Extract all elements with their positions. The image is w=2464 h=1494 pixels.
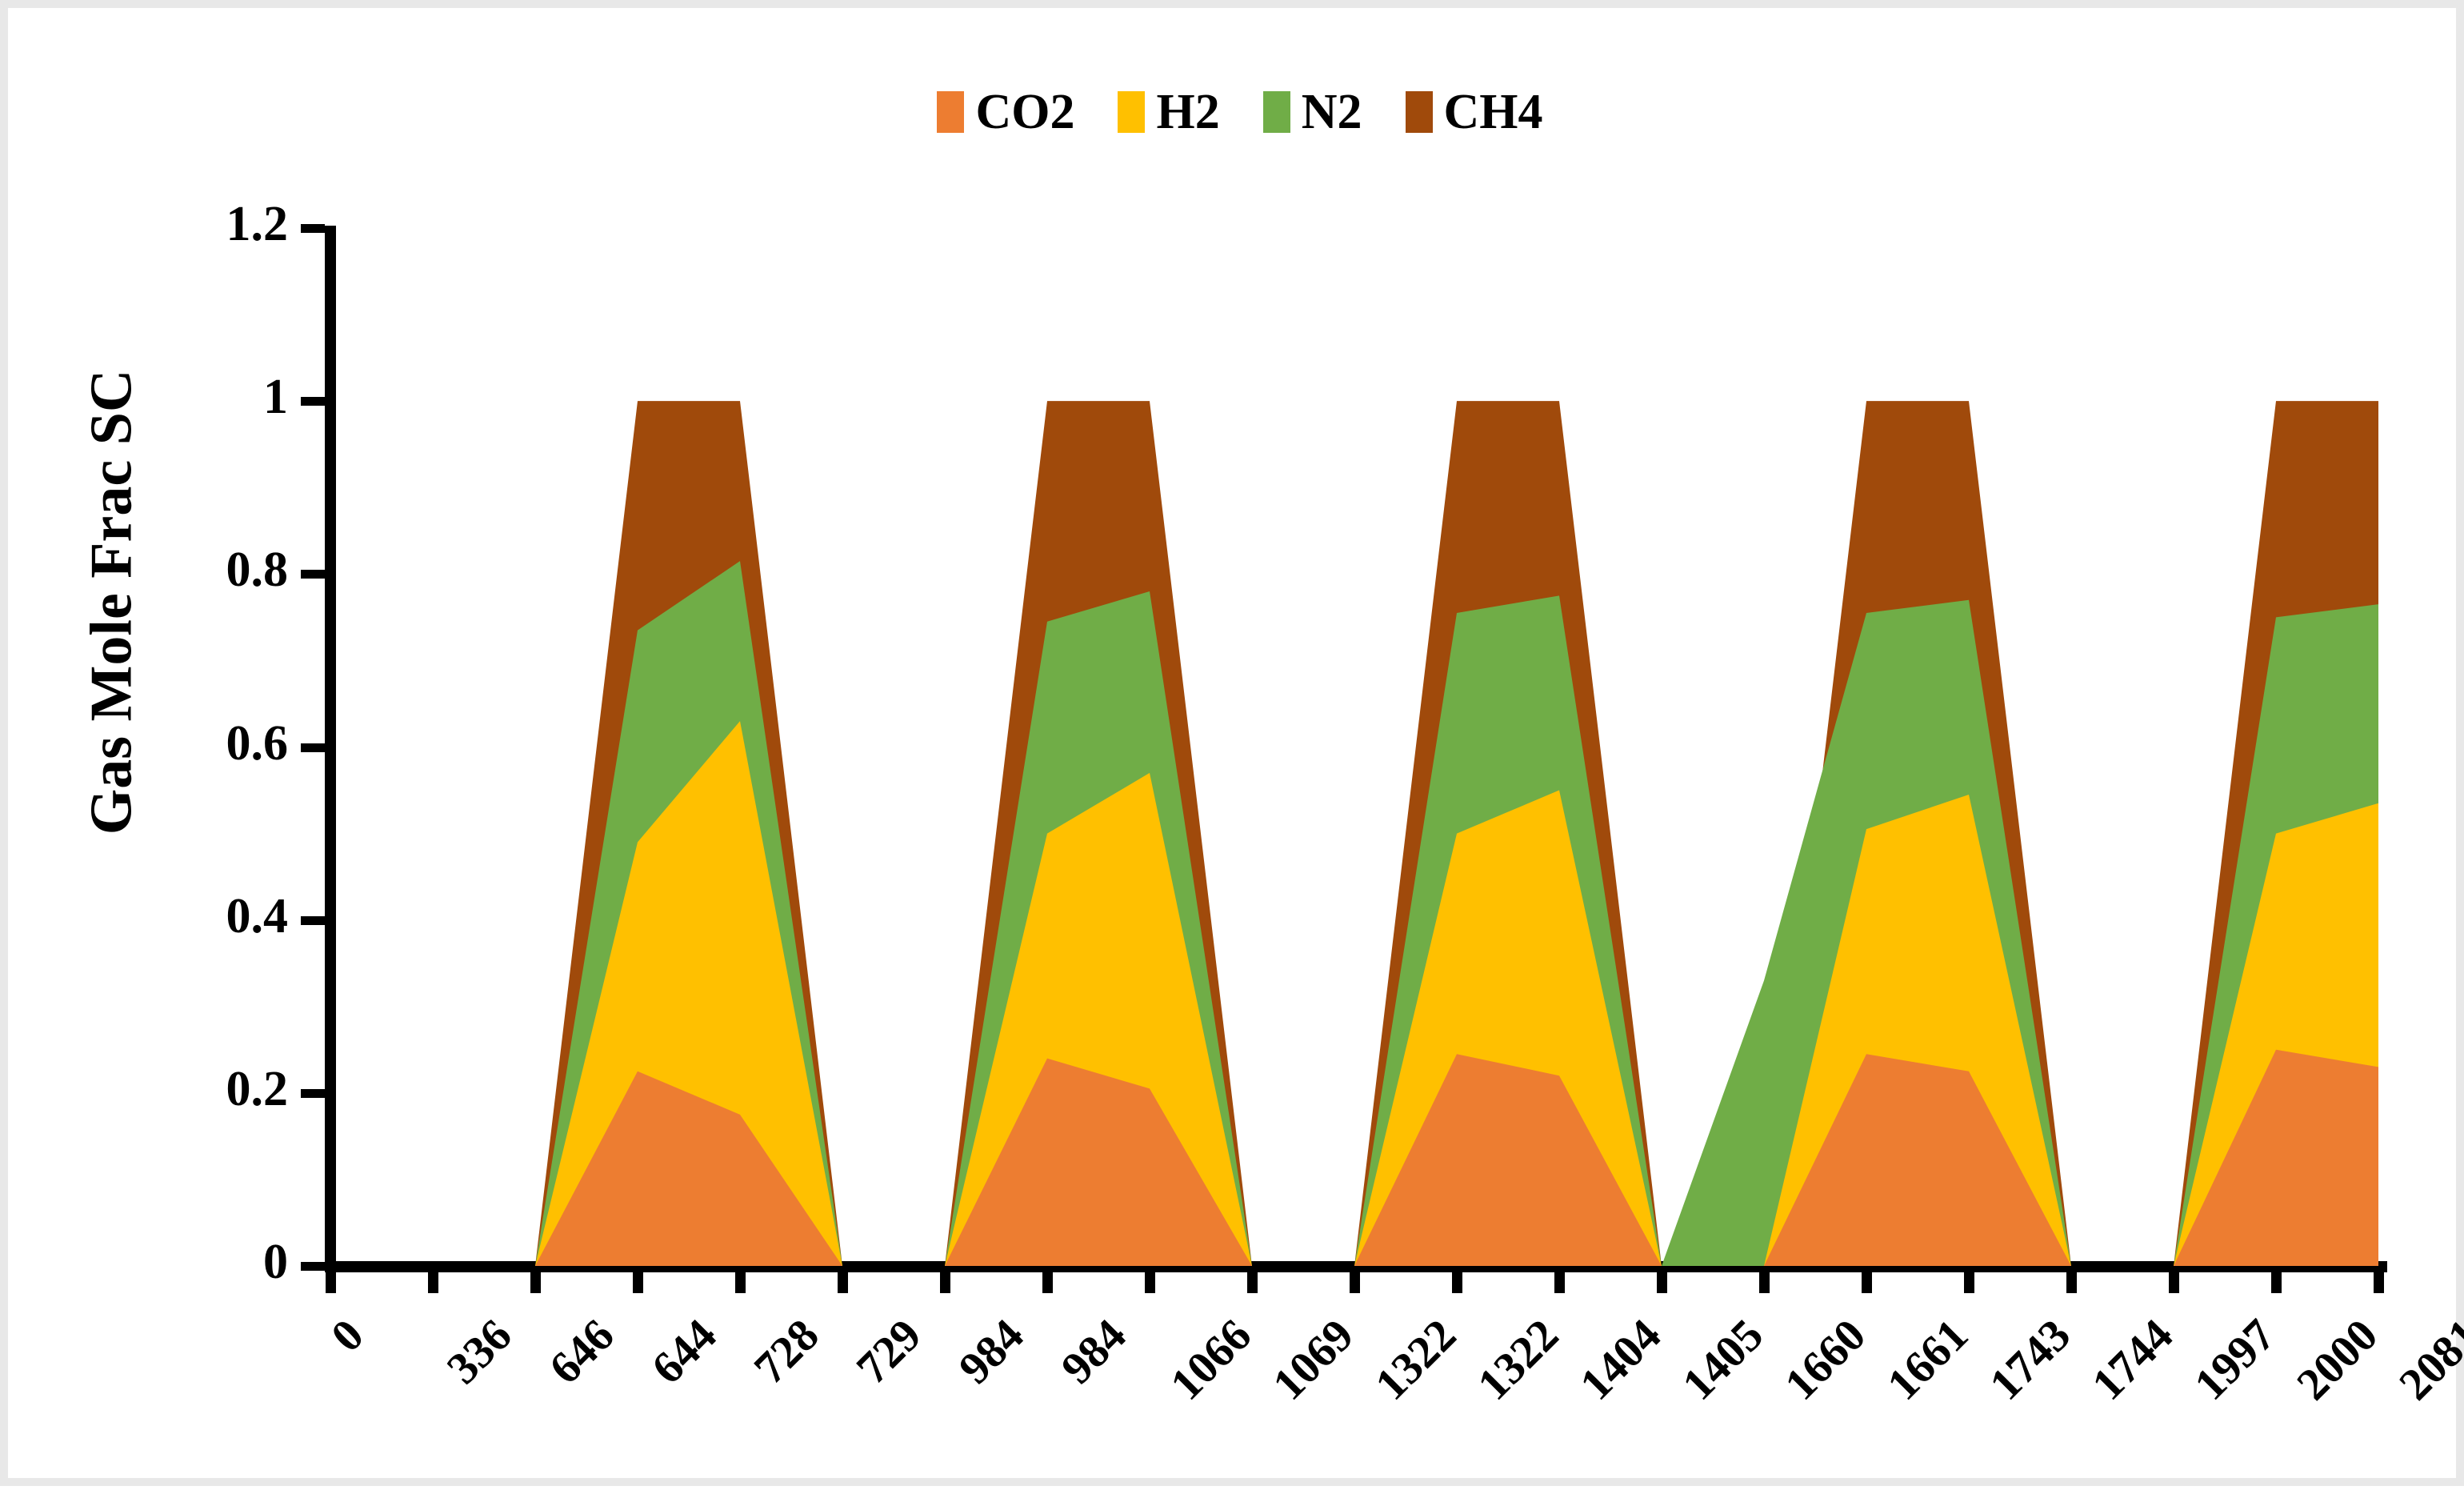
y-axis-tick-label: 0.6 bbox=[88, 719, 288, 768]
legend-item-h2: H2 bbox=[1118, 87, 1219, 137]
plot-svg bbox=[330, 228, 2378, 1266]
x-axis-tick-label: 728 bbox=[744, 1309, 829, 1394]
x-axis-tick bbox=[838, 1272, 848, 1293]
x-axis-tick-label: 1405 bbox=[1672, 1309, 1774, 1411]
x-axis-tick-label: 1066 bbox=[1160, 1309, 1262, 1411]
x-axis-tick-label: 336 bbox=[437, 1309, 522, 1394]
x-axis-tick-label: 1744 bbox=[2082, 1309, 2183, 1411]
chart-legend: CO2 H2 N2 CH4 bbox=[8, 84, 2464, 140]
y-axis-tick-label: 0.2 bbox=[88, 1064, 288, 1114]
y-axis-tick bbox=[301, 224, 325, 233]
legend-label-h2: H2 bbox=[1156, 87, 1219, 137]
y-axis-tick bbox=[301, 743, 325, 752]
x-axis-tick-label: 729 bbox=[846, 1309, 931, 1394]
x-axis-tick bbox=[1657, 1272, 1667, 1293]
legend-label-n2: N2 bbox=[1302, 87, 1362, 137]
area-series-co2 bbox=[330, 1050, 2378, 1266]
x-axis-tick bbox=[1964, 1272, 1974, 1293]
x-axis-tick bbox=[326, 1272, 336, 1293]
x-axis-tick-label: 1322 bbox=[1467, 1309, 1569, 1411]
legend-label-co2: CO2 bbox=[975, 87, 1074, 137]
y-axis-tick bbox=[301, 570, 325, 579]
y-axis-tick-label: 1.2 bbox=[88, 199, 288, 249]
legend-item-ch4: CH4 bbox=[1406, 87, 1543, 137]
x-axis-tick bbox=[1042, 1272, 1053, 1293]
legend-item-n2: N2 bbox=[1263, 87, 1362, 137]
y-axis-tick-label: 1 bbox=[88, 372, 288, 422]
x-axis-tick-label: 1322 bbox=[1365, 1309, 1466, 1411]
x-axis-tick bbox=[428, 1272, 438, 1293]
stacked-area-plot bbox=[330, 228, 2378, 1266]
x-axis-tick bbox=[1350, 1272, 1360, 1293]
x-axis-tick bbox=[735, 1272, 746, 1293]
x-axis-tick bbox=[1759, 1272, 1770, 1293]
y-axis-tick-label: 0.4 bbox=[88, 891, 288, 941]
x-axis-tick-label: 1661 bbox=[1877, 1309, 1978, 1411]
x-axis-tick bbox=[1452, 1272, 1462, 1293]
x-axis-tick bbox=[2066, 1272, 2077, 1293]
x-axis-tick-label: 984 bbox=[949, 1309, 1034, 1394]
x-axis-tick bbox=[1247, 1272, 1258, 1293]
y-axis-tick bbox=[301, 397, 325, 406]
x-axis-tick-label: 1404 bbox=[1570, 1309, 1671, 1411]
x-axis-tick bbox=[2374, 1272, 2384, 1293]
y-axis-labels: 00.20.40.60.811.2 bbox=[88, 8, 288, 1494]
x-axis-tick-label: 984 bbox=[1051, 1309, 1136, 1394]
x-axis-tick-label: 1069 bbox=[1262, 1309, 1364, 1411]
legend-swatch-ch4 bbox=[1406, 91, 1433, 133]
x-axis-tick bbox=[940, 1272, 950, 1293]
legend-swatch-n2 bbox=[1263, 91, 1290, 133]
x-axis-tick bbox=[1145, 1272, 1155, 1293]
chart-frame: CO2 H2 N2 CH4 Gas Mole Frac SC 00.20.40.… bbox=[0, 0, 2464, 1486]
y-axis-tick bbox=[301, 1089, 325, 1098]
y-axis-tick bbox=[301, 916, 325, 925]
x-axis-tick bbox=[2169, 1272, 2179, 1293]
x-axis-tick-label: 2000 bbox=[2286, 1309, 2388, 1411]
x-axis-tick bbox=[633, 1272, 643, 1293]
legend-swatch-co2 bbox=[937, 91, 964, 133]
x-axis-tick-label: 1660 bbox=[1774, 1309, 1876, 1411]
x-axis-tick bbox=[1862, 1272, 1872, 1293]
x-axis-tick-label: 0 bbox=[321, 1309, 374, 1362]
legend-label-ch4: CH4 bbox=[1444, 87, 1543, 137]
x-axis-tick-label: 646 bbox=[539, 1309, 624, 1394]
x-axis-tick-label: 1743 bbox=[1979, 1309, 2081, 1411]
legend-swatch-h2 bbox=[1118, 91, 1145, 133]
x-axis-tick bbox=[2271, 1272, 2282, 1293]
y-axis-tick-label: 0.8 bbox=[88, 545, 288, 595]
x-axis-tick bbox=[530, 1272, 541, 1293]
legend-item-co2: CO2 bbox=[937, 87, 1074, 137]
x-axis-tick bbox=[1554, 1272, 1565, 1293]
x-axis-tick-label: 2081 bbox=[2389, 1309, 2464, 1411]
y-axis-tick bbox=[301, 1262, 325, 1271]
x-axis-tick-label: 1997 bbox=[2184, 1309, 2286, 1411]
x-axis-tick-label: 644 bbox=[642, 1309, 726, 1394]
y-axis-tick-label: 0 bbox=[88, 1237, 288, 1287]
